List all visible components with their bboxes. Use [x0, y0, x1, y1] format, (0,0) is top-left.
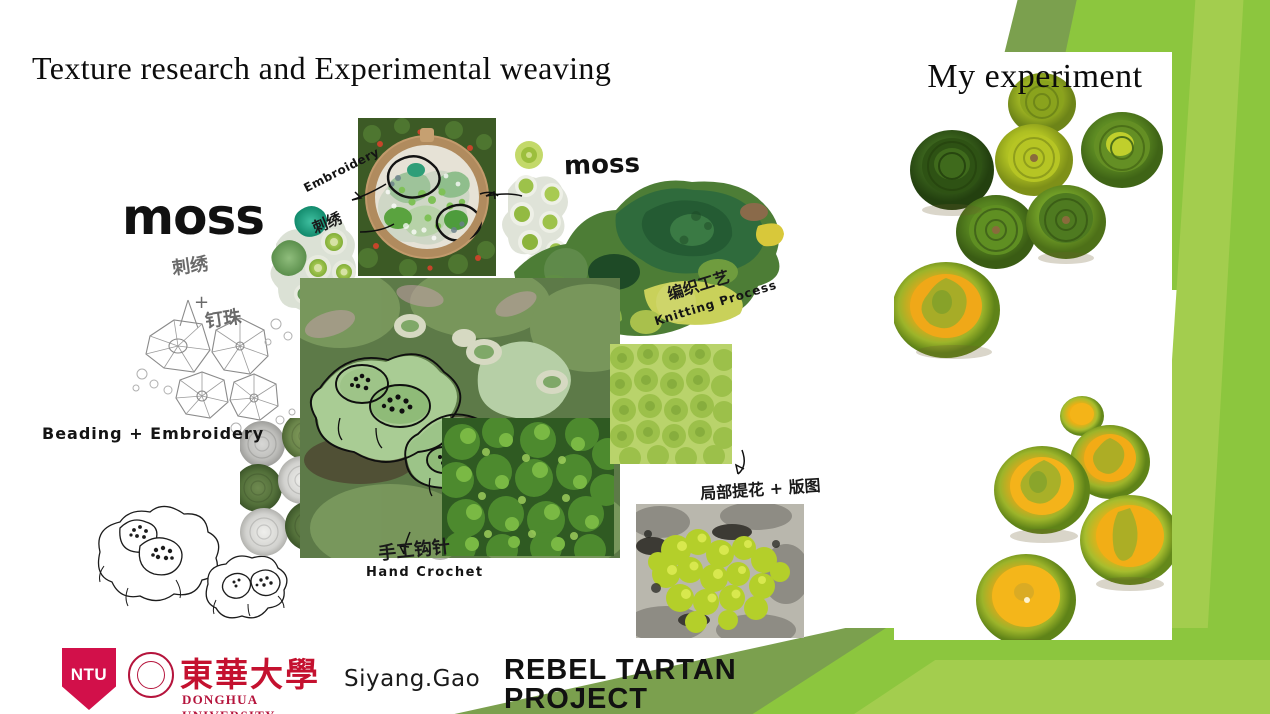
label-sketch-beading-cn: 钉珠 [203, 303, 242, 334]
experiment-title: My experiment [906, 58, 1164, 96]
moss-cushion-photo [442, 418, 614, 556]
experiment-card [894, 52, 1172, 640]
donghua-name-en: DONGHUA UNIVERSITY [182, 692, 324, 714]
decor-green-panel-right-bright [1196, 0, 1270, 714]
donghua-seal-icon [128, 652, 174, 698]
ntu-label: NTU [71, 665, 107, 685]
moss-word-small: moss [563, 149, 640, 182]
page-title: Texture research and Experimental weavin… [32, 50, 611, 87]
label-sketch-embroidery-cn: 刺绣 [170, 250, 209, 281]
lichen-rock-photo [636, 504, 804, 638]
donghua-seal-inner-icon [137, 661, 165, 689]
presentation-slide: Texture research and Experimental weavin… [0, 0, 1270, 714]
rebel-tartan-title: REBEL TARTAN PROJECT [504, 656, 860, 714]
author-signature: Siyang.Gao [344, 666, 480, 692]
ntu-logo: NTU [62, 648, 116, 710]
moss-word-large: moss [122, 188, 264, 246]
quilted-green-photo [610, 344, 732, 464]
crochet-cluster-upper [910, 73, 1163, 269]
label-jacquard-cn: 局部提花 + 版图 [699, 472, 821, 504]
embroidery-hoop-photo [358, 118, 496, 276]
label-hand-crochet-en: Hand Crochet [366, 565, 484, 580]
donghua-name-cn: 東華大學 [180, 648, 320, 696]
label-beading-embroidery: Beading + Embroidery [42, 424, 264, 443]
decor-green-panel-bottom-pale [800, 660, 1270, 714]
donghua-logo: 東華大學 DONGHUA UNIVERSITY [128, 650, 324, 708]
ntu-shield-icon: NTU [62, 648, 116, 710]
footer-logos: NTU 東華大學 DONGHUA UNIVERSITY Siyang.Gao R… [0, 640, 860, 714]
experiment-samples-photo [894, 52, 1172, 640]
rebel-tartan-logo: REBEL TARTAN PROJECT CREATED BY JULIANA … [504, 656, 860, 714]
